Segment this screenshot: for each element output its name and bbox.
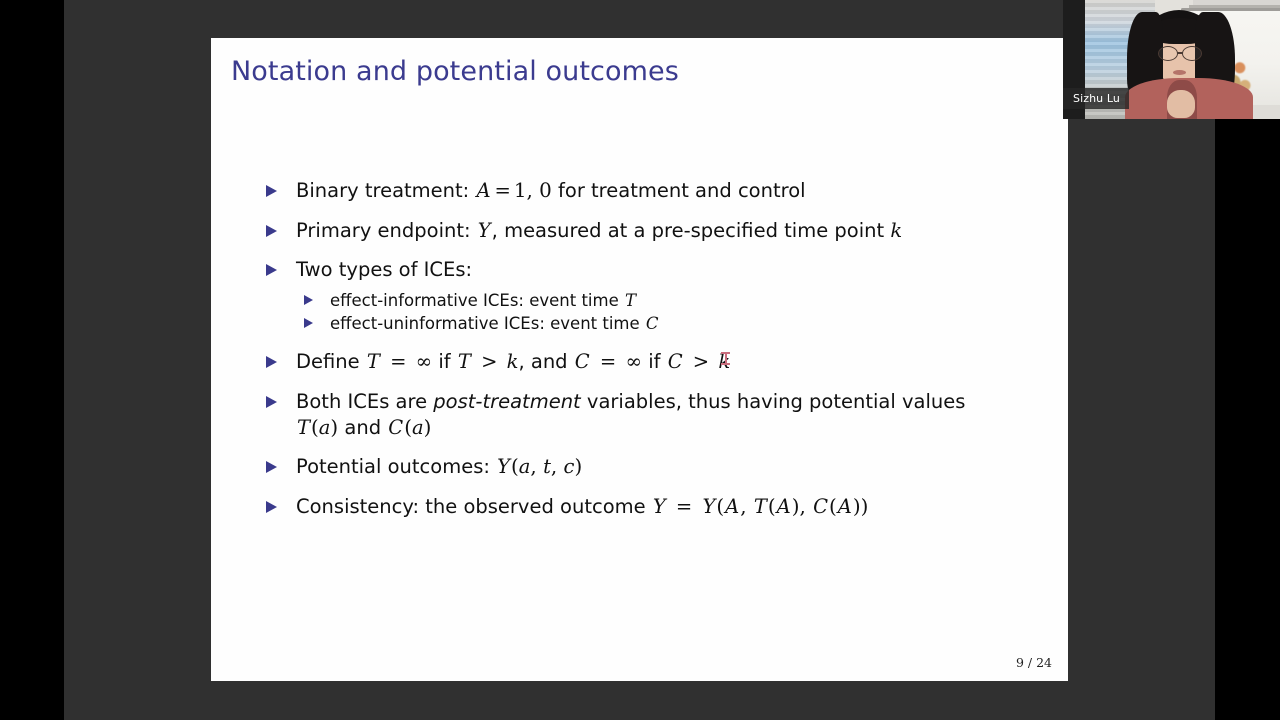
bullet-potential-outcomes: Potential outcomes: Y(a, t, c) [257,454,1056,480]
webcam-person-glasses-left [1158,46,1178,61]
math-paren-open-2: ( [404,416,412,439]
bullet-triangle-icon [266,225,277,237]
sub-bullet-text: effect-uninformative ICEs: event time [330,314,645,333]
math-var-a: a [319,416,331,439]
bullet-text-suffix: variables, thus having potential values [581,390,966,413]
bullet-text-prefix: Consistency: the observed outcome [296,495,652,518]
math-paren-open: ( [511,455,519,478]
math-var-t: T [753,495,768,518]
math-paren-close-2: )) [853,495,869,518]
math-paren-open: ( [716,495,724,518]
math-var-a2: a [412,416,424,439]
math-var-t: T [624,291,637,310]
letterbox-left [0,0,64,720]
math-var-c: C [645,314,660,333]
math-infinity: ∞ [416,350,433,373]
math-paren-open: ( [311,416,319,439]
math-var-y: Y [496,455,511,478]
math-greater-than: > [472,350,507,373]
bullet-text-prefix: Potential outcomes: [296,455,496,478]
math-var-a: A [475,179,491,202]
math-comma: , [530,455,543,478]
sub-bullet-list: effect-informative ICEs: event time T ef… [296,290,1056,336]
if-word: if [432,350,457,373]
sub-bullet-text: effect-informative ICEs: event time [330,291,624,310]
emphasis-post-treatment: post-treatment [433,390,580,413]
bullet-triangle-icon [266,185,277,197]
math-var-c: c [564,455,575,478]
math-var-c: C [387,416,404,439]
if-word-2: if [642,350,667,373]
math-paren-close: ), [792,495,812,518]
math-var-c: C [574,350,591,373]
bullet-consistency: Consistency: the observed outcome Y = Y(… [257,494,1056,520]
math-equals: = [381,350,416,373]
bullet-triangle-icon [266,501,277,513]
math-greater-than-2: > [684,350,719,373]
webcam-person-hand [1167,90,1195,118]
math-var-y: Y [652,495,667,518]
sub-bullet-effect-informative: effect-informative ICEs: event time T [296,290,1056,312]
math-comma: , [740,495,753,518]
and-word: , and [518,350,573,373]
bullet-triangle-icon [266,356,277,368]
math-equals-2: = [591,350,626,373]
bullet-triangle-icon [304,318,313,328]
math-var-c2: C [667,350,684,373]
math-var-a2: A [776,495,792,518]
bullet-text-prefix: Binary treatment: [296,179,475,202]
math-var-a: a [519,455,531,478]
math-var-k: k [507,350,519,373]
page-number: 9 / 24 [1016,655,1052,670]
math-comma-2: , [551,455,564,478]
and-word: and [338,416,387,439]
define-word: Define [296,350,366,373]
slide: Notation and potential outcomes Binary t… [211,38,1068,681]
math-equals: = [667,495,702,518]
webcam-bg-curtain-rod [1181,8,1280,11]
math-var-t: T [366,350,381,373]
math-var-y2: Y [701,495,716,518]
math-var-a3: A [837,495,853,518]
slide-title: Notation and potential outcomes [231,56,679,87]
screen: Notation and potential outcomes Binary t… [0,0,1280,720]
text-cursor-icon [721,352,730,365]
math-var-k: k [890,219,902,242]
bullet-triangle-icon [266,396,277,408]
math-paren-open-2: ( [768,495,776,518]
bullet-define-infinity: Define T = ∞ if T > k, and C = ∞ if C > … [257,349,1056,375]
webcam-person-glasses-bridge [1177,52,1183,54]
bullet-two-types-of-ices: Two types of ICEs: effect-informative IC… [257,257,1056,335]
math-var-c: C [812,495,829,518]
bullet-triangle-icon [304,295,313,305]
math-var-t: T [296,416,311,439]
sub-bullet-effect-uninformative: effect-uninformative ICEs: event time C [296,313,1056,335]
webcam-participant-name: Sizhu Lu [1063,88,1129,109]
bullet-text-prefix: Primary endpoint: [296,219,477,242]
bullet-text-suffix: for treatment and control [552,179,806,202]
math-var-y: Y [477,219,492,242]
bullet-list: Binary treatment: A=1, 0 for treatment a… [257,178,1056,520]
math-paren-close-2: ) [424,416,432,439]
webcam-person-mouth [1173,70,1186,75]
math-var-t: t [543,455,551,478]
slide-body: Binary treatment: A=1, 0 for treatment a… [257,178,1056,534]
bullet-text-middle: , measured at a pre-specified time point [492,219,891,242]
math-paren-close: ) [574,455,582,478]
bullet-primary-endpoint: Primary endpoint: Y, measured at a pre-s… [257,218,1056,243]
math-paren-open-3: ( [829,495,837,518]
webcam-person-glasses-right [1182,46,1202,61]
math-var-t2: T [457,350,472,373]
bullet-binary-treatment: Binary treatment: A=1, 0 for treatment a… [257,178,1056,204]
math-values: 1, 0 [514,179,552,202]
bullet-triangle-icon [266,461,277,473]
math-var-a: A [724,495,740,518]
math-infinity-2: ∞ [625,350,642,373]
bullet-triangle-icon [266,264,277,276]
bullet-text: Two types of ICEs: [296,258,472,281]
webcam-video-tile[interactable]: Sizhu Lu [1063,0,1280,119]
math-equals: = [492,179,514,202]
bullet-post-treatment-variables: Both ICEs are post-treatment variables, … [257,389,1056,440]
bullet-text-prefix: Both ICEs are [296,390,433,413]
